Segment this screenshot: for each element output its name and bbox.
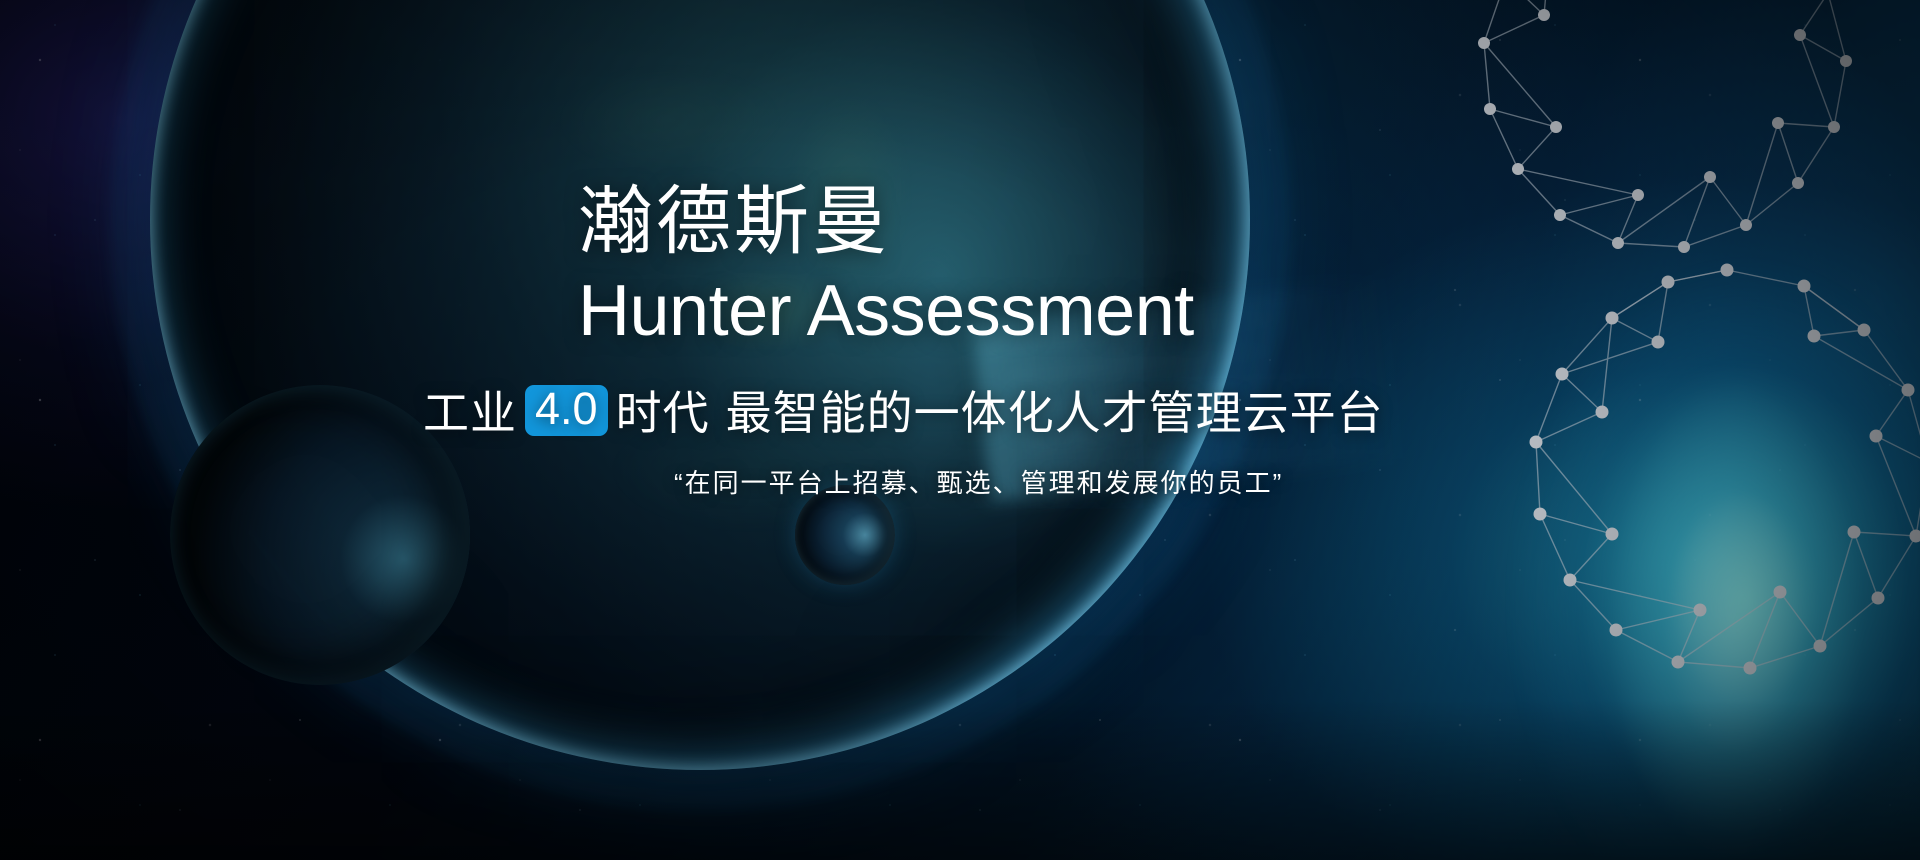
- hero-subtitle: “在同一平台上招募、甄选、管理和发展你的员工”: [674, 463, 1283, 500]
- tagline-part2: 时代: [616, 377, 710, 443]
- tagline-part3: 最智能的一体化人才管理云平台: [726, 377, 1384, 443]
- industry-version-badge: 4.0: [525, 385, 608, 436]
- hero-banner: 瀚德斯曼 Hunter Assessment 工业 4.0 时代 最智能的一体化…: [0, 0, 1920, 860]
- hero-content: 瀚德斯曼 Hunter Assessment 工业 4.0 时代 最智能的一体化…: [0, 0, 1920, 860]
- page-title-cn: 瀚德斯曼: [578, 182, 890, 261]
- tagline: 工业 4.0 时代 最智能的一体化人才管理云平台: [423, 377, 1384, 443]
- page-title-en: Hunter Assessment: [578, 273, 1194, 349]
- tagline-part1: 工业: [423, 377, 517, 443]
